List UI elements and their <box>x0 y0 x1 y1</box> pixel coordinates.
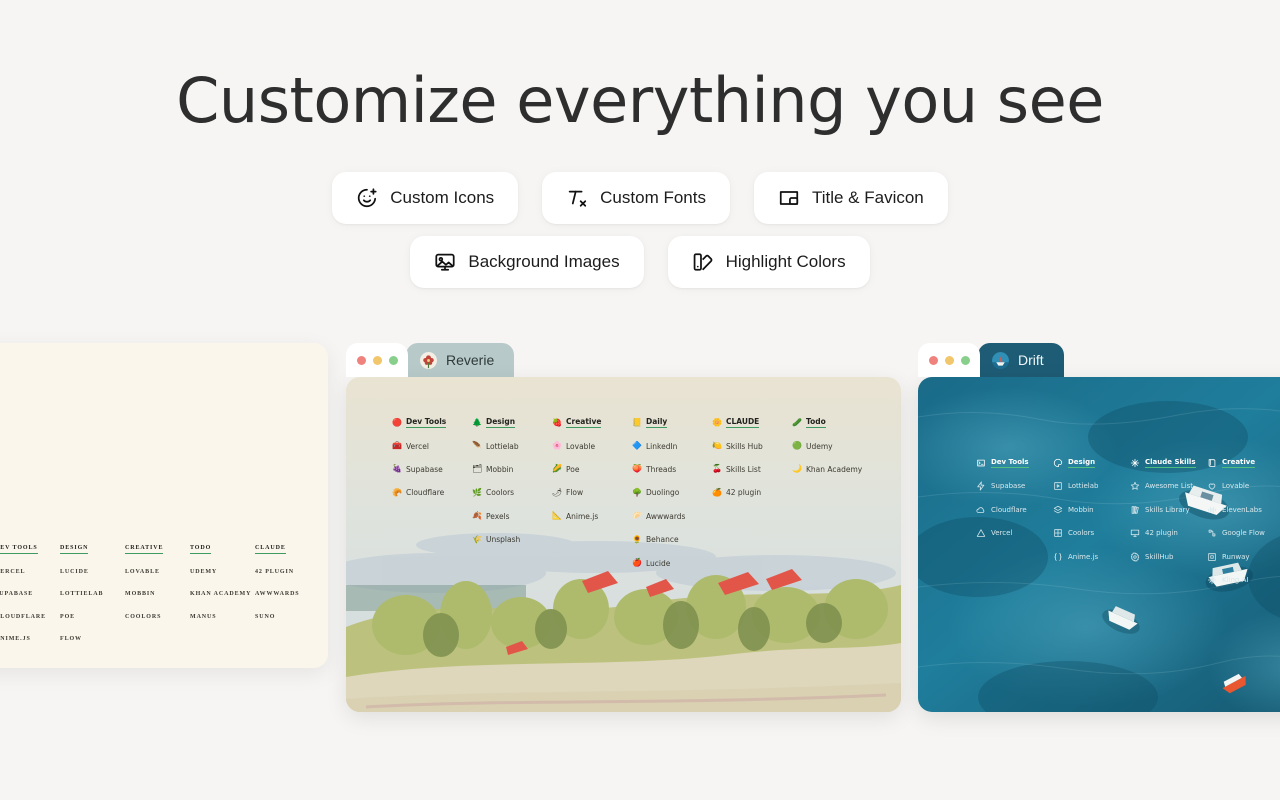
bookmark-columns: Dev ToolsSupabaseCloudflareVercelDesignL… <box>976 451 1280 592</box>
feature-pill-label: Highlight Colors <box>726 252 846 272</box>
bookmark-emoji-icon: 🌿 <box>472 489 481 497</box>
close-button[interactable] <box>929 356 938 365</box>
bookmark-emoji-icon: 🍊 <box>712 489 721 497</box>
bookmark-item-label: Supabase <box>406 465 443 474</box>
bookmark-item-label: Lottielab <box>486 442 519 451</box>
card-tabbar: Reverie <box>346 343 901 377</box>
bookmark-column-header-label: Claude Skills <box>1145 458 1196 468</box>
bookmark-item[interactable]: Anime.js <box>1053 545 1130 569</box>
bookmark-item-label: Anime.js <box>566 512 598 521</box>
bookmark-columns: Dev ToolsVercelSupabaseCloudflareAnime.j… <box>0 538 320 651</box>
boat-icon <box>992 352 1009 369</box>
bookmark-column-header[interactable]: Design <box>1053 451 1130 475</box>
bookmark-item[interactable]: Vercel <box>0 561 60 584</box>
bookmark-column-header-label: Dev Tools <box>0 545 38 554</box>
palette-icon <box>1053 458 1063 468</box>
bookmark-emoji-icon: 🍓 <box>552 419 561 427</box>
bookmark-item[interactable]: 🍇Supabase <box>392 458 472 481</box>
bookmark-item[interactable]: Coolors <box>125 606 190 629</box>
bookmark-column: 🌼CLAUDE🍋Skills Hub🍒Skills List🍊42 plugin <box>712 411 792 575</box>
bookmark-item[interactable]: Runway <box>1207 545 1280 569</box>
play-square-icon <box>1053 481 1063 491</box>
swatch-icon <box>1053 528 1063 538</box>
browser-card-cream: Dev ToolsVercelSupabaseCloudflareAnime.j… <box>0 343 328 668</box>
bookmark-item-label: Cloudflare <box>406 488 444 497</box>
bookmark-item[interactable]: Coolors <box>1053 522 1130 546</box>
bookmark-item-label: Unsplash <box>486 535 520 544</box>
bookmark-item[interactable]: 🟢Udemy <box>792 434 872 457</box>
window-controls[interactable] <box>918 343 980 377</box>
bookmark-column: 📒Daily🔷LinkedIn🍑Threads🌳Duolingo🥟Awwward… <box>632 411 712 575</box>
bookmark-item[interactable]: Google Flow <box>1207 522 1280 546</box>
bookmark-emoji-icon: 🥐 <box>392 489 401 497</box>
books-icon <box>1130 505 1140 515</box>
bookmark-item-label: Udemy <box>190 569 217 575</box>
bookmark-column-header[interactable]: 🔴Dev Tools <box>392 411 472 434</box>
page-root: Customize everything you see Custom Icon… <box>0 0 1280 800</box>
bookmark-item[interactable]: 42 plugin <box>1130 522 1207 546</box>
bookmark-item-label: Skills Library <box>1145 506 1190 514</box>
image-monitor-icon <box>434 251 456 273</box>
bookmark-item-label: Vercel <box>406 442 429 451</box>
bookmark-item[interactable]: Cloudflare <box>0 606 60 629</box>
bookmark-item-label: ElevenLabs <box>1222 506 1262 514</box>
bookmark-emoji-icon: 🌼 <box>712 419 721 427</box>
bookmark-item[interactable]: 🍊42 plugin <box>712 481 792 504</box>
bookmark-item-label: Coolors <box>486 488 514 497</box>
bookmark-item-label: Skills List <box>726 465 761 474</box>
feature-pill-label: Custom Fonts <box>600 188 706 208</box>
bookmark-item-label: Khan Academy <box>190 591 251 597</box>
bookmark-item[interactable]: 🌿Coolors <box>472 481 552 504</box>
bookmark-item[interactable]: 🍒Skills List <box>712 458 792 481</box>
bookmark-item[interactable]: 🌽Poe <box>552 458 632 481</box>
flow-icon <box>1207 528 1217 538</box>
bookmark-item-label: Lovable <box>125 569 160 575</box>
bookmark-item-label: Lovable <box>566 442 595 451</box>
bookmark-item-label: Lucide <box>646 559 670 568</box>
bookmark-item[interactable]: Skills Library <box>1130 498 1207 522</box>
bookmark-item[interactable]: Anime.js <box>0 628 60 651</box>
bookmark-column-header-label: Creative <box>125 545 163 554</box>
book-icon <box>1207 458 1217 468</box>
bookmark-item[interactable]: Lottielab <box>60 583 125 606</box>
bookmark-item[interactable]: Supabase <box>0 583 60 606</box>
bookmark-emoji-icon: 🥒 <box>792 419 801 427</box>
bookmark-item[interactable]: 🧰Vercel <box>392 434 472 457</box>
card-viewport: Dev ToolsSupabaseCloudflareVercelDesignL… <box>918 377 1280 712</box>
bookmark-item[interactable]: Lucide <box>60 561 125 584</box>
bookmark-item-label: Threads <box>646 465 676 474</box>
terminal-icon <box>976 458 986 468</box>
bookmark-column: DesignLottielabMobbinCoolorsAnime.js <box>1053 451 1130 592</box>
bookmark-column-header-label: Todo <box>190 545 211 554</box>
feature-pill-label: Background Images <box>468 252 619 272</box>
maximize-button[interactable] <box>389 356 398 365</box>
bookmark-item-label: 42 Plugin <box>255 569 294 575</box>
bookmark-emoji-icon: 🟢 <box>792 442 801 450</box>
smiley-plus-icon <box>356 187 378 209</box>
bookmark-column-header[interactable]: Dev Tools <box>0 538 60 561</box>
sparkle-icon <box>1130 458 1140 468</box>
bookmark-column: Dev ToolsSupabaseCloudflareVercel <box>976 451 1053 592</box>
bookmark-item-label: Supabase <box>0 591 33 597</box>
bookmark-item[interactable]: Supabase <box>976 475 1053 499</box>
bookmark-item-label: Kling AI <box>1222 576 1248 584</box>
bookmark-item-label: Google Flow <box>1222 529 1265 537</box>
bookmark-emoji-icon: 🪶 <box>472 442 481 450</box>
bookmark-column: 🥒Todo🟢Udemy🌙Khan Academy <box>792 411 872 575</box>
bookmark-item-label: 42 plugin <box>1145 529 1178 537</box>
bookmark-emoji-icon: 📒 <box>632 419 641 427</box>
bookmark-emoji-icon: 🧰 <box>392 442 401 450</box>
bookmark-item[interactable]: 🌳Duolingo <box>632 481 712 504</box>
bookmark-column: 🌲Design🪶Lottielab🗂Mobbin🌿Coolors🍂Pexels🌾… <box>472 411 552 575</box>
browser-card-drift: Drift <box>918 343 1280 712</box>
bookmark-column-header[interactable]: 🍓Creative <box>552 411 632 434</box>
bookmark-column-header-label: Creative <box>566 417 601 428</box>
bookmark-item[interactable]: 🗂Mobbin <box>472 458 552 481</box>
bookmark-item-label: 42 plugin <box>726 488 761 497</box>
bookmark-column-header-label: CLAUDE <box>255 545 286 554</box>
bookmark-column-header[interactable]: Claude Skills <box>1130 451 1207 475</box>
bookmark-emoji-icon: 🌻 <box>632 536 641 544</box>
bookmark-item-label: Coolors <box>1068 529 1094 537</box>
bookmark-item[interactable]: 🌾Unsplash <box>472 528 552 551</box>
browser-tab-title: Reverie <box>446 352 494 368</box>
bookmark-column-header[interactable]: Creative <box>125 538 190 561</box>
card-viewport: Dev ToolsVercelSupabaseCloudflareAnime.j… <box>0 343 328 668</box>
bookmark-item-label: Mobbin <box>125 591 155 597</box>
text-remove-icon <box>566 187 588 209</box>
bookmark-item[interactable]: 🍑Threads <box>632 458 712 481</box>
bookmark-column-header-label: CLAUDE <box>726 417 759 428</box>
bookmark-item-label: Supabase <box>991 482 1025 490</box>
bookmark-item-label: Vercel <box>991 529 1012 537</box>
bookmark-item-label: Pexels <box>486 512 510 521</box>
bookmark-column-header-label: Todo <box>806 417 826 428</box>
bookmark-emoji-icon: 🍇 <box>392 465 401 473</box>
bookmark-item-label: Cloudflare <box>991 506 1027 514</box>
bookmark-item-label: Anime.js <box>1068 553 1098 561</box>
bookmark-item-label: Awwwards <box>255 591 300 597</box>
feature-pill-title-favicon[interactable]: Title & Favicon <box>754 172 948 224</box>
feature-pill-highlight-colors[interactable]: Highlight Colors <box>668 236 870 288</box>
bookmark-item-label: Awwwards <box>646 512 685 521</box>
bookmark-item[interactable]: Flow <box>60 628 125 651</box>
browser-window-icon <box>778 187 800 209</box>
bookmark-column: CLAUDE42 PluginAwwwardsSuno <box>255 538 320 651</box>
bookmark-emoji-icon: 🍎 <box>632 559 641 567</box>
feature-pill-label: Custom Icons <box>390 188 494 208</box>
flower-icon <box>420 352 437 369</box>
feature-pill-custom-fonts[interactable]: Custom Fonts <box>542 172 730 224</box>
waveform-icon <box>1207 505 1217 515</box>
bookmark-emoji-icon: 🍂 <box>472 512 481 520</box>
minimize-button[interactable] <box>945 356 954 365</box>
bookmark-item-label: Poe <box>60 614 75 620</box>
bookmark-emoji-icon: 🍋 <box>712 442 721 450</box>
bookmark-emoji-icon: 🍑 <box>632 465 641 473</box>
bookmark-item[interactable]: Udemy <box>190 561 255 584</box>
bookmark-item-label: Lottielab <box>60 591 103 597</box>
minimize-button[interactable] <box>373 356 382 365</box>
spark-icon <box>1207 575 1217 585</box>
bookmark-item[interactable]: SkillHub <box>1130 545 1207 569</box>
color-swatch-icon <box>692 251 714 273</box>
bookmark-item-label: Mobbin <box>1068 506 1094 514</box>
bookmark-item[interactable]: Mobbin <box>125 583 190 606</box>
bookmark-item-label: SkillHub <box>1145 553 1173 561</box>
braces-icon <box>1053 552 1063 562</box>
heart-icon <box>1207 481 1217 491</box>
bookmark-column: Claude SkillsAwesome ListSkills Library4… <box>1130 451 1207 592</box>
bookmark-item-label: Manus <box>190 614 217 620</box>
bookmark-item[interactable]: 🌸Lovable <box>552 434 632 457</box>
bookmark-emoji-icon: 📐 <box>552 512 561 520</box>
bookmark-item[interactable]: Awwwards <box>255 583 320 606</box>
bookmark-item[interactable]: 📐Anime.js <box>552 505 632 528</box>
card-viewport: 🔴Dev Tools🧰Vercel🍇Supabase🥐Cloudflare🌲De… <box>346 377 901 712</box>
bookmark-column-header[interactable]: 🌼CLAUDE <box>712 411 792 434</box>
bookmark-emoji-icon: 🍒 <box>712 465 721 473</box>
bookmark-item-label: Khan Academy <box>806 465 862 474</box>
browser-tab-title: Drift <box>1018 352 1044 368</box>
bookmark-item-label: Awesome List <box>1145 482 1193 490</box>
bookmark-item[interactable]: Lottielab <box>1053 475 1130 499</box>
bookmark-item-label: Anime.js <box>0 636 31 642</box>
bookmark-item-label: Skills Hub <box>726 442 763 451</box>
bookmark-column: 🔴Dev Tools🧰Vercel🍇Supabase🥐Cloudflare <box>392 411 472 575</box>
bookmark-item[interactable]: 🪶Lottielab <box>472 434 552 457</box>
bookmark-column-header-label: Daily <box>646 417 667 428</box>
bookmark-emoji-icon: 🌾 <box>472 536 481 544</box>
bookmark-item[interactable]: 🍂Pexels <box>472 505 552 528</box>
gear-icon <box>1130 552 1140 562</box>
bookmark-item[interactable]: 🌶Flow <box>552 481 632 504</box>
bookmark-emoji-icon: 🌸 <box>552 442 561 450</box>
bookmark-item-label: Mobbin <box>486 465 513 474</box>
bookmark-column-header[interactable]: Design <box>60 538 125 561</box>
bookmark-item[interactable]: ElevenLabs <box>1207 498 1280 522</box>
bookmark-item[interactable]: 🍎Lucide <box>632 551 712 574</box>
bookmark-item-label: Flow <box>566 488 583 497</box>
bookmark-emoji-icon: 🌙 <box>792 465 801 473</box>
bookmark-column-header-label: Design <box>60 545 88 554</box>
card-tabbar: Drift <box>918 343 1280 377</box>
bookmark-item-label: Duolingo <box>646 488 679 497</box>
bookmark-emoji-icon: 🔷 <box>632 442 641 450</box>
feature-pill-custom-icons[interactable]: Custom Icons <box>332 172 518 224</box>
cloud-icon <box>976 505 986 515</box>
runway-icon <box>1207 552 1217 562</box>
bookmark-column: DesignLucideLottielabPoeFlow <box>60 538 125 651</box>
bookmark-item[interactable]: Lovable <box>1207 475 1280 499</box>
bookmark-item[interactable]: Vercel <box>976 522 1053 546</box>
bookmark-item[interactable]: 42 Plugin <box>255 561 320 584</box>
bookmark-column: 🍓Creative🌸Lovable🌽Poe🌶Flow📐Anime.js <box>552 411 632 575</box>
bookmark-column-header[interactable]: 🥒Todo <box>792 411 872 434</box>
bookmark-item-label: Vercel <box>0 569 25 575</box>
browser-tab-drift[interactable]: Drift <box>978 343 1064 377</box>
bookmark-item[interactable]: Awesome List <box>1130 475 1207 499</box>
bookmark-column-header[interactable]: Creative <box>1207 451 1280 475</box>
bookmark-item-label: Poe <box>566 465 579 474</box>
bookmark-item[interactable]: 🥟Awwwards <box>632 505 712 528</box>
bookmark-column: TodoUdemyKhan AcademyManus <box>190 538 255 651</box>
bookmark-emoji-icon: 🌶 <box>552 489 561 497</box>
bookmark-column-header-label: Design <box>486 417 515 428</box>
bookmark-item[interactable]: 🌻Behance <box>632 528 712 551</box>
bookmark-item[interactable]: Suno <box>255 606 320 629</box>
bookmark-item-label: Runway <box>1222 553 1250 561</box>
bookmark-column-header[interactable]: Dev Tools <box>976 451 1053 475</box>
bookmark-column-header-label: Creative <box>1222 458 1255 468</box>
bookmark-item[interactable]: Khan Academy <box>190 583 255 606</box>
bookmark-columns: 🔴Dev Tools🧰Vercel🍇Supabase🥐Cloudflare🌲De… <box>392 411 872 575</box>
feature-pill-background-images[interactable]: Background Images <box>410 236 643 288</box>
feature-pill-row-1: Custom Icons Custom Fonts <box>0 172 1280 224</box>
bookmark-item-label: Coolors <box>125 614 161 620</box>
bookmark-item[interactable]: 🍋Skills Hub <box>712 434 792 457</box>
browser-tab-reverie[interactable]: Reverie <box>406 343 514 377</box>
maximize-button[interactable] <box>961 356 970 365</box>
bookmark-item[interactable]: Poe <box>60 606 125 629</box>
bookmark-item[interactable]: 🌙Khan Academy <box>792 458 872 481</box>
window-controls[interactable] <box>346 343 408 377</box>
bookmark-item-label: Flow <box>60 636 82 642</box>
page-title: Customize everything you see <box>0 62 1280 140</box>
close-button[interactable] <box>357 356 366 365</box>
monitor-icon <box>1130 528 1140 538</box>
bookmark-item-label: LinkedIn <box>646 442 677 451</box>
bookmark-emoji-icon: 🌳 <box>632 489 641 497</box>
bookmark-item-label: Udemy <box>806 442 833 451</box>
bookmark-item[interactable]: Cloudflare <box>976 498 1053 522</box>
bookmark-item-label: Cloudflare <box>0 614 46 620</box>
bookmark-emoji-icon: 🔴 <box>392 419 401 427</box>
bookmark-item[interactable]: Manus <box>190 606 255 629</box>
browser-card-reverie: Reverie <box>346 343 901 712</box>
bookmark-column-header[interactable]: CLAUDE <box>255 538 320 561</box>
bookmark-column-header-label: Design <box>1068 458 1095 468</box>
bookmark-emoji-icon: 🌲 <box>472 419 481 427</box>
bookmark-item[interactable]: 🥐Cloudflare <box>392 481 472 504</box>
bookmark-item-label: Lottielab <box>1068 482 1098 490</box>
bolt-icon <box>976 481 986 491</box>
bookmark-column-header[interactable]: Todo <box>190 538 255 561</box>
star-icon <box>1130 481 1140 491</box>
feature-pill-group: Custom Icons Custom Fonts <box>0 172 1280 300</box>
bookmark-emoji-icon: 🥟 <box>632 512 641 520</box>
bookmark-column: CreativeLovableMobbinCoolors <box>125 538 190 651</box>
bookmark-item-label: Lucide <box>60 569 89 575</box>
bookmark-column-header-label: Dev Tools <box>406 417 446 428</box>
feature-pill-label: Title & Favicon <box>812 188 924 208</box>
bookmark-column: CreativeLovableElevenLabsGoogle FlowRunw… <box>1207 451 1280 592</box>
bookmark-column: Dev ToolsVercelSupabaseCloudflareAnime.j… <box>0 538 60 651</box>
bookmark-item[interactable]: 🔷LinkedIn <box>632 434 712 457</box>
feature-pill-row-2: Background Images Highlight Colors <box>0 236 1280 288</box>
triangle-icon <box>976 528 986 538</box>
bookmark-column-header[interactable]: 📒Daily <box>632 411 712 434</box>
bookmark-item[interactable]: Kling AI <box>1207 569 1280 593</box>
bookmark-item[interactable]: Mobbin <box>1053 498 1130 522</box>
bookmark-column-header[interactable]: 🌲Design <box>472 411 552 434</box>
bookmark-emoji-icon: 🗂 <box>472 465 481 473</box>
bookmark-item-label: Behance <box>646 535 679 544</box>
bookmark-item-label: Suno <box>255 614 275 620</box>
bookmark-item-label: Lovable <box>1222 482 1249 490</box>
bookmark-column-header-label: Dev Tools <box>991 458 1029 468</box>
bookmark-item[interactable]: Lovable <box>125 561 190 584</box>
bookmark-emoji-icon: 🌽 <box>552 465 561 473</box>
layers-icon <box>1053 505 1063 515</box>
